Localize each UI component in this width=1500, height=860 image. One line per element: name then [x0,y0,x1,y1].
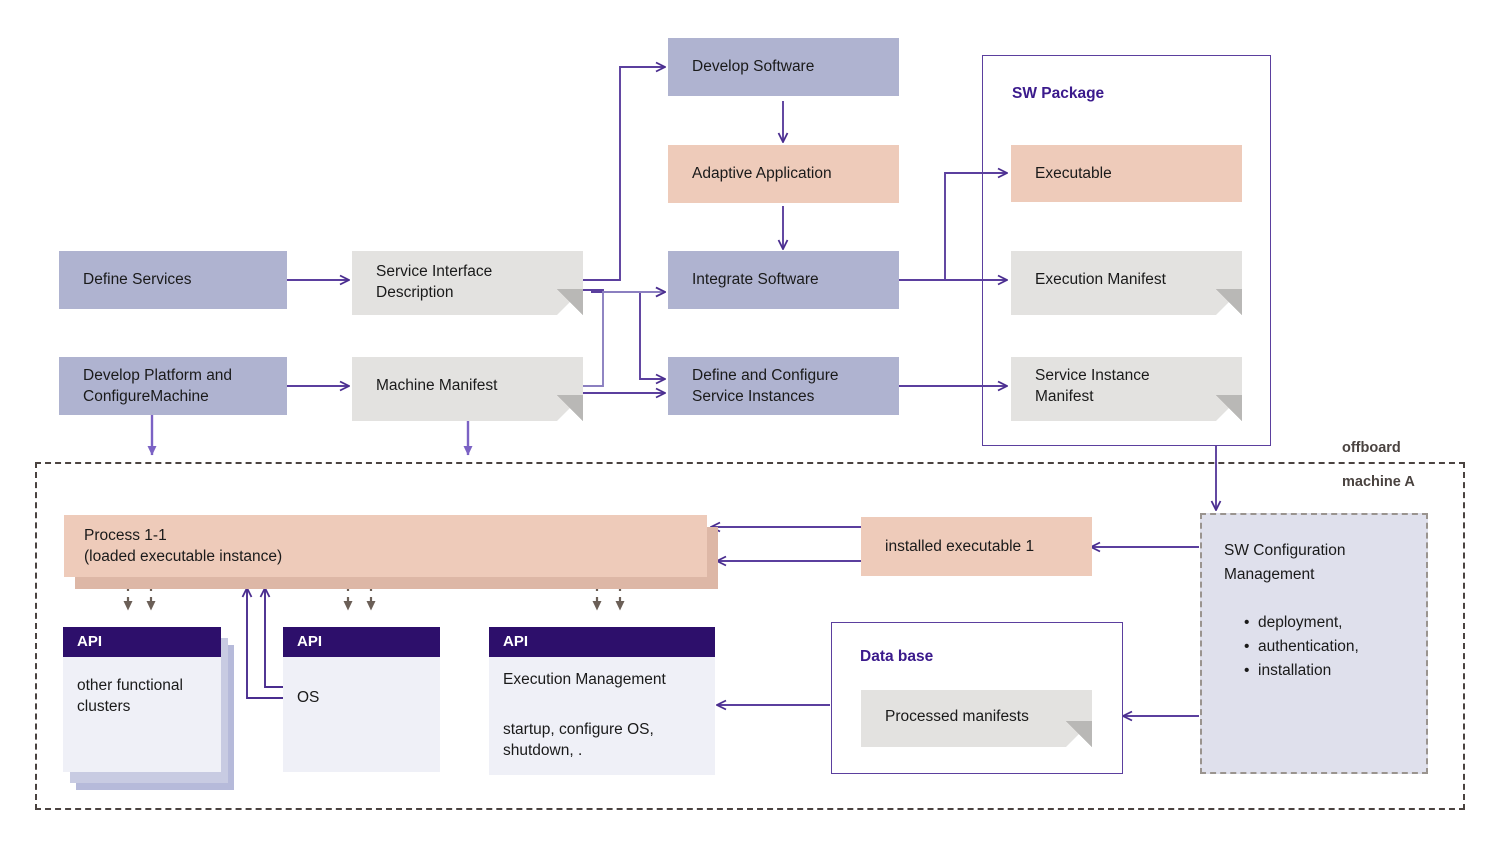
offboard-label: offboard [1342,440,1401,456]
machine-a-label: machine A [1342,474,1415,490]
database-processed-manifests-label: Processed manifests [885,706,1029,727]
os-api-header: API [283,627,440,657]
document-machine-manifest[interactable]: Machine Manifest [352,357,583,421]
sw-package-item-execution-manifest[interactable]: Execution Manifest [1011,251,1242,315]
activity-develop-platform-configure-machine[interactable]: Develop Platform and ConfigureMachine [59,357,287,415]
execution-management-box[interactable]: API Execution Management startup, config… [489,627,715,775]
functional-clusters-box[interactable]: API other functional clusters [63,627,221,772]
sw-package-item-service-instance-manifest[interactable]: Service Instance Manifest [1011,357,1242,421]
execution-management-api-header: API [489,627,715,657]
installed-executable-1[interactable]: installed executable 1 [861,517,1092,576]
activity-develop-platform-label: Develop Platform and ConfigureMachine [83,365,232,407]
functional-clusters-api-label: API [77,633,102,650]
activity-define-configure-service-instances[interactable]: Define and Configure Service Instances [668,357,899,415]
activity-define-services-label: Define Services [83,269,192,290]
os-api-label: API [297,633,322,650]
database-title: Data base [860,648,933,666]
artifact-adaptive-application-label: Adaptive Application [692,163,832,184]
os-body: OS [297,687,430,708]
sw-config-bullet-authentication: authentication, [1258,635,1359,659]
sw-package-item-execution-manifest-label: Execution Manifest [1035,269,1166,290]
os-box[interactable]: API OS [283,627,440,772]
sw-package-item-executable-label: Executable [1035,163,1112,184]
database-processed-manifests[interactable]: Processed manifests [861,690,1092,747]
execution-management-detail: startup, configure OS, shutdown, . [503,719,705,761]
activity-develop-software-label: Develop Software [692,56,814,77]
execution-management-title: Execution Management [503,669,705,690]
activity-develop-software[interactable]: Develop Software [668,38,899,96]
artifact-adaptive-application[interactable]: Adaptive Application [668,145,899,203]
activity-integrate-software[interactable]: Integrate Software [668,251,899,309]
activity-integrate-software-label: Integrate Software [692,269,819,290]
installed-executable-1-label: installed executable 1 [885,536,1034,557]
sw-configuration-management-title: SW Configuration Management [1224,539,1345,587]
sw-package-item-executable[interactable]: Executable [1011,145,1242,202]
sw-configuration-management-box[interactable]: SW Configuration Management deployment, … [1200,513,1428,774]
process-1-1-label: Process 1-1 (loaded executable instance) [84,525,282,567]
document-service-interface-description[interactable]: Service Interface Description [352,251,583,315]
activity-define-configure-service-instances-label: Define and Configure Service Instances [692,365,839,407]
sw-config-bullet-deployment: deployment, [1258,611,1359,635]
functional-clusters-body: other functional clusters [77,675,211,717]
diagram-canvas: Define Services Service Interface Descri… [0,0,1500,860]
document-service-interface-description-label: Service Interface Description [376,261,492,303]
execution-management-api-label: API [503,633,528,650]
sw-package-title: SW Package [1012,85,1104,103]
document-machine-manifest-label: Machine Manifest [376,375,497,396]
sw-configuration-management-bullets: deployment, authentication, installation [1242,611,1359,683]
sw-config-bullet-installation: installation [1258,659,1359,683]
sw-package-item-service-instance-manifest-label: Service Instance Manifest [1035,365,1150,407]
functional-clusters-api-header: API [63,627,221,657]
activity-define-services[interactable]: Define Services [59,251,287,309]
process-1-1[interactable]: Process 1-1 (loaded executable instance) [64,515,707,577]
